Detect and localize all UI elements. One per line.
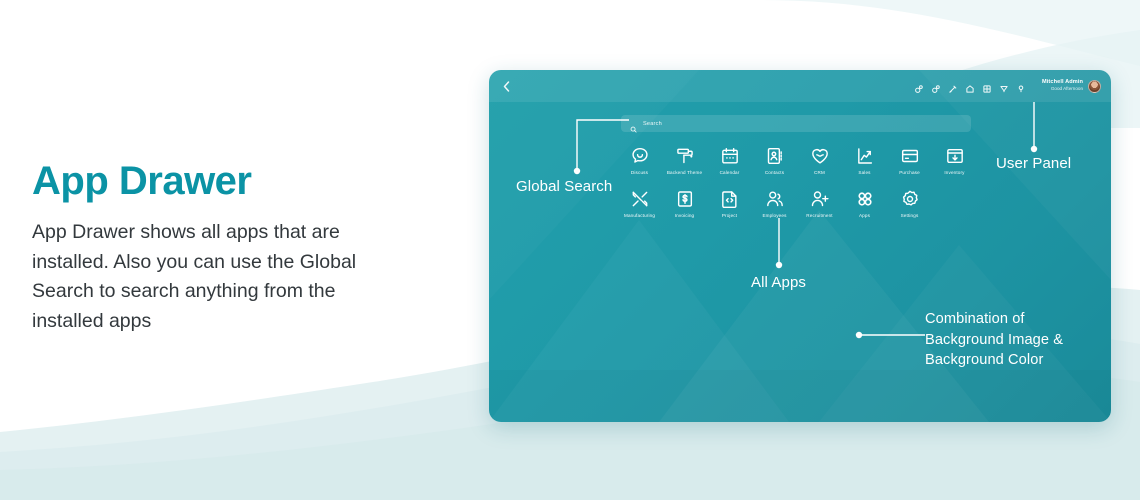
combination-leader-line: [855, 330, 927, 340]
callout-global-search: Global Search: [516, 178, 612, 195]
people-icon: [765, 189, 785, 209]
dollar-document-icon: [675, 189, 695, 209]
avatar[interactable]: [1088, 80, 1101, 93]
app-label: Inventory: [944, 170, 964, 175]
person-add-icon: [810, 189, 830, 209]
user-name: Mitchell Admin: [1042, 80, 1083, 86]
app-label: Settings: [901, 213, 919, 218]
code-file-icon: [720, 189, 740, 209]
callout-combination: Combination of Background Image & Backgr…: [925, 309, 1063, 371]
app-backend-theme[interactable]: Backend Theme: [662, 146, 707, 175]
search-placeholder: Search: [643, 121, 662, 127]
app-label: Calendar: [720, 170, 740, 175]
app-inventory[interactable]: Inventory: [932, 146, 977, 175]
callout-combination-line1: Combination of: [925, 309, 1063, 330]
apps-grid: Discuss Backend Theme Calendar Contacts: [617, 146, 977, 218]
contacts-book-icon: [765, 146, 785, 166]
app-manufacturing[interactable]: Manufacturing: [617, 189, 662, 218]
heart-crm-icon: [810, 146, 830, 166]
tools-icon: [630, 189, 650, 209]
all-apps-leader-line: [774, 218, 784, 268]
app-label: Contacts: [765, 170, 784, 175]
app-label: Purchase: [899, 170, 920, 175]
app-settings[interactable]: Settings: [887, 189, 932, 218]
app-project[interactable]: Project: [707, 189, 752, 218]
sales-chart-icon: [855, 146, 875, 166]
apps-grid-icon: [855, 189, 875, 209]
user-panel[interactable]: Mitchell Admin Good Afternoon: [1042, 80, 1101, 93]
location-icon[interactable]: [1016, 81, 1026, 91]
callout-all-apps: All Apps: [751, 274, 806, 291]
app-label: Apps: [859, 213, 870, 218]
app-recruitment[interactable]: Recruitment: [797, 189, 842, 218]
callout-user-panel: User Panel: [996, 155, 1071, 172]
app-label: Manufacturing: [624, 213, 655, 218]
messages-icon[interactable]: [931, 81, 941, 91]
search-input[interactable]: Search: [621, 115, 971, 132]
calendar-icon: [720, 146, 740, 166]
app-employees[interactable]: Employees: [752, 189, 797, 218]
callout-combination-line3: Background Color: [925, 350, 1063, 371]
bug-icon[interactable]: [914, 81, 924, 91]
system-icon-tray: Mitchell Admin Good Afternoon: [914, 80, 1101, 93]
app-label: Project: [722, 213, 737, 218]
user-names: Mitchell Admin Good Afternoon: [1042, 80, 1083, 92]
app-contacts[interactable]: Contacts: [752, 146, 797, 175]
inventory-box-icon: [945, 146, 965, 166]
global-search-leader-line: [573, 117, 633, 175]
app-purchase[interactable]: Purchase: [887, 146, 932, 175]
app-label: Backend Theme: [667, 170, 702, 175]
app-apps[interactable]: Apps: [842, 189, 887, 218]
page-title: App Drawer: [32, 160, 432, 202]
app-crm[interactable]: CRM: [797, 146, 842, 175]
intro-text-block: App Drawer App Drawer shows all apps tha…: [32, 160, 432, 337]
grid-icon[interactable]: [982, 81, 992, 91]
gear-icon: [900, 189, 920, 209]
panel-topbar: Mitchell Admin Good Afternoon: [489, 70, 1111, 102]
app-calendar[interactable]: Calendar: [707, 146, 752, 175]
user-panel-leader-line: [1029, 102, 1039, 152]
app-label: Discuss: [631, 170, 648, 175]
home-icon[interactable]: [965, 81, 975, 91]
paint-roller-icon: [675, 146, 695, 166]
app-label: Recruitment: [806, 213, 832, 218]
page-description: App Drawer shows all apps that are insta…: [32, 218, 392, 337]
notification-icon[interactable]: [999, 81, 1009, 91]
purchase-card-icon: [900, 146, 920, 166]
callout-combination-line2: Background Image &: [925, 330, 1063, 351]
activity-icon[interactable]: [948, 81, 958, 91]
app-label: Invoicing: [675, 213, 694, 218]
app-invoicing[interactable]: Invoicing: [662, 189, 707, 218]
chevron-left-icon[interactable]: [503, 81, 510, 92]
app-sales[interactable]: Sales: [842, 146, 887, 175]
user-greeting: Good Afternoon: [1051, 87, 1083, 92]
app-label: CRM: [814, 170, 825, 175]
app-label: Sales: [858, 170, 870, 175]
